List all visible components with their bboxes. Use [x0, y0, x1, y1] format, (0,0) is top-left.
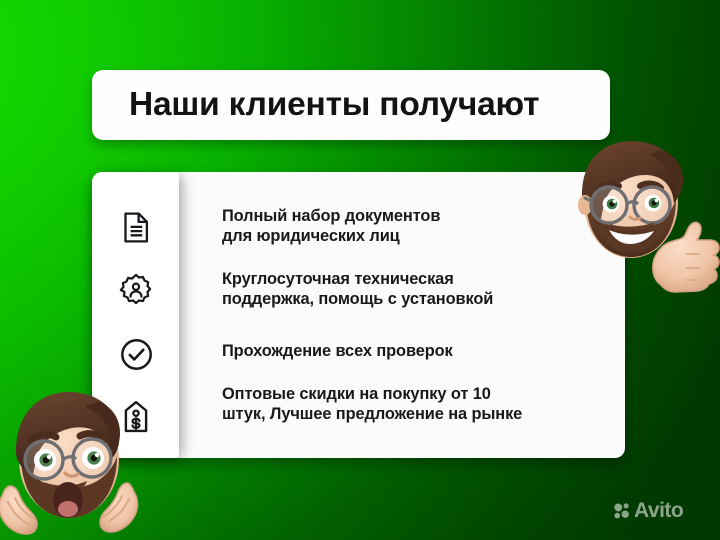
avito-dots-logo: [613, 502, 630, 519]
feature-text-4: Оптовые скидки на покупку от 10 штук, Лу…: [222, 384, 622, 424]
feature-4-line-2: штук, Лучшее предложение на рынке: [222, 404, 622, 424]
feature-text-2: Круглосуточная техническая поддержка, по…: [222, 269, 622, 309]
check-circle-icon: [118, 336, 154, 372]
feature-2-line-2: поддержка, помощь с установкой: [222, 289, 622, 309]
feature-text-3: Прохождение всех проверок: [222, 341, 622, 361]
shocked-man-memoji: [0, 372, 142, 540]
document-icon: [118, 209, 154, 245]
avito-watermark: Avito: [613, 500, 683, 521]
feature-1-line-1: Полный набор документов: [222, 207, 440, 225]
title-card: Наши клиенты получают: [92, 70, 610, 140]
avito-wordmark: Avito: [634, 500, 683, 521]
support-gear-user-icon: [118, 272, 154, 308]
promo-banner: Наши клиенты получают: [0, 0, 720, 540]
bearded-man-thumbs-up-memoji: [568, 133, 720, 293]
page-title: Наши клиенты получают: [129, 86, 539, 124]
feature-2-line-1: Круглосуточная техническая: [222, 270, 454, 288]
feature-3-line-1: Прохождение всех проверок: [222, 342, 453, 360]
feature-1-line-2: для юридических лиц: [222, 226, 622, 246]
feature-4-line-1: Оптовые скидки на покупку от 10: [222, 385, 491, 403]
feature-text-1: Полный набор документов для юридических …: [222, 206, 622, 246]
